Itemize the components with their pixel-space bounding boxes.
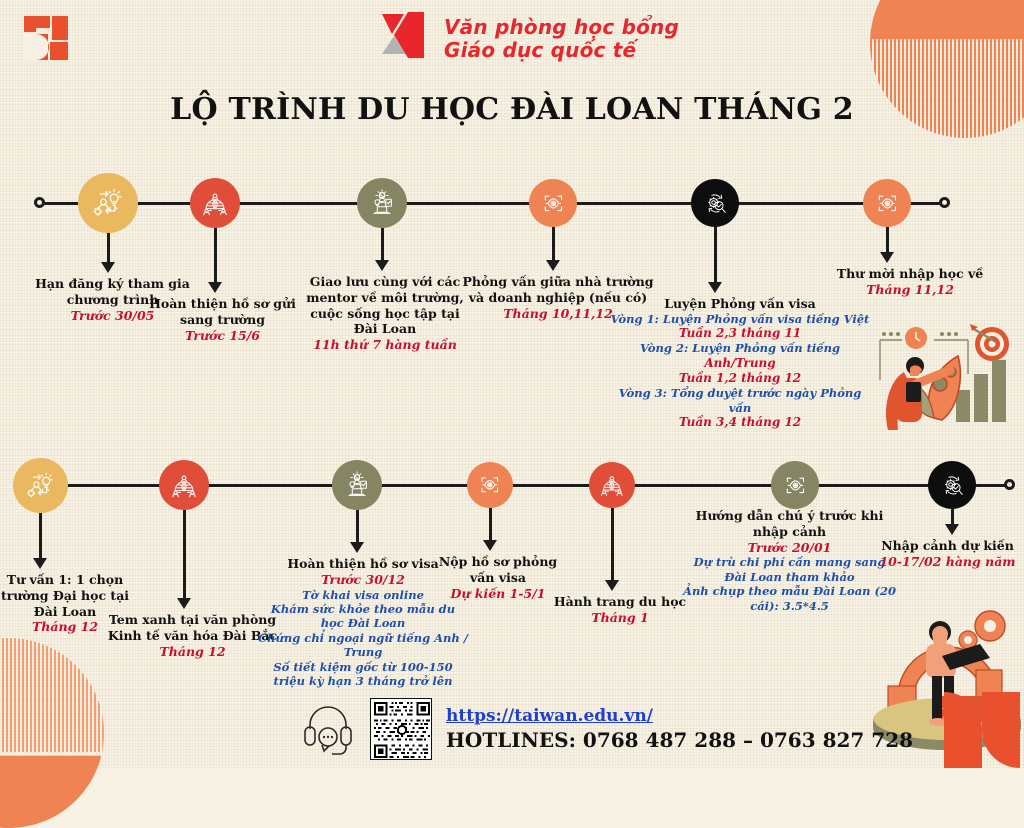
step-row2-date-3: Trước 30/12 bbox=[258, 572, 468, 588]
step-row2-arrow-7 bbox=[945, 524, 959, 535]
step-row2-arrow-3 bbox=[350, 542, 364, 553]
step-row1-arrow-1 bbox=[101, 262, 115, 273]
timeline-endcap-end-2 bbox=[1004, 479, 1015, 490]
step-row1-note-5-3: Vòng 2: Luyện Phỏng vấn tiếng bbox=[610, 341, 870, 355]
step-row1-date-6: Tháng 11,12 bbox=[820, 282, 1000, 298]
step-row2-title-7: Nhập cảnh dự kiến bbox=[870, 538, 1024, 554]
step-row1-note-5-6: Vòng 3: Tổng duyệt trước ngày Phỏng vấn bbox=[610, 386, 870, 415]
globe-people-network-icon bbox=[169, 470, 199, 500]
timeline-node-2-1[interactable] bbox=[13, 458, 68, 513]
website-link[interactable]: https://taiwan.edu.vn/ bbox=[446, 706, 913, 726]
step-row2-note-6-1: Dự trù chi phí cần mang sang Đài Loan th… bbox=[682, 555, 897, 584]
step-row1-caption-3: Giao lưu cùng với các mentor về môi trườ… bbox=[305, 274, 465, 353]
laptop-mentor-checklist-icon bbox=[342, 470, 372, 500]
step-row1-caption-5: Luyện Phỏng vấn visaVòng 1: Luyện Phỏng … bbox=[610, 296, 870, 430]
idea-person-gears-icon bbox=[24, 469, 57, 502]
timeline-node-2-2[interactable] bbox=[159, 460, 209, 510]
idea-person-gears-icon bbox=[90, 185, 126, 221]
timeline-node-1-5[interactable] bbox=[691, 179, 739, 227]
step-row1-date-2: Trước 15/6 bbox=[140, 328, 305, 344]
timeline-node-1-6[interactable] bbox=[863, 179, 911, 227]
step-row1-connector-1 bbox=[107, 233, 110, 262]
page-title: LỘ TRÌNH DU HỌC ĐÀI LOAN THÁNG 2 bbox=[0, 92, 1024, 127]
step-row2-note-3-2: Khám sức khỏe theo mẫu du học Đài Loan bbox=[258, 602, 468, 631]
step-row1-title-5: Luyện Phỏng vấn visa bbox=[610, 296, 870, 312]
step-row1-title-3: Giao lưu cùng với các mentor về môi trườ… bbox=[305, 274, 465, 337]
step-row2-title-6: Hướng dẫn chú ý trước khi nhập cảnh bbox=[682, 508, 897, 540]
eye-focus-scan-icon bbox=[781, 471, 810, 500]
qr-code[interactable] bbox=[370, 698, 432, 760]
step-row2-date-6: Trước 20/01 bbox=[682, 540, 897, 556]
globe-people-network-icon bbox=[598, 471, 626, 499]
brand-lockup: Văn phòng học bổng Giáo dục quốc tế bbox=[378, 8, 679, 69]
hotlines-text: HOTLINES: 0768 487 288 – 0763 827 728 bbox=[446, 728, 913, 752]
step-row2-connector-7 bbox=[951, 509, 954, 524]
step-row1-connector-2 bbox=[214, 228, 217, 282]
step-row2-caption-3: Hoàn thiện hồ sơ visaTrước 30/12Tờ khai … bbox=[258, 556, 468, 689]
s-monogram-logo bbox=[18, 10, 74, 71]
timeline-endcap-end-1 bbox=[939, 197, 950, 208]
headset-support-icon bbox=[300, 699, 356, 760]
step-row2-title-4: Nộp hồ sơ phỏng vấn visa bbox=[438, 554, 558, 586]
timeline-node-2-3[interactable] bbox=[332, 460, 382, 510]
step-row1-note-5-7: Tuần 3,4 tháng 12 bbox=[610, 415, 870, 430]
step-row1-arrow-2 bbox=[208, 282, 222, 293]
brand-line-2: Giáo dục quốc tế bbox=[444, 39, 679, 61]
step-row2-caption-6: Hướng dẫn chú ý trước khi nhập cảnhTrước… bbox=[682, 508, 897, 613]
step-row2-caption-5: Hành trang du họcTháng 1 bbox=[550, 594, 690, 626]
brand-line-1: Văn phòng học bổng bbox=[444, 16, 679, 38]
timeline-node-2-4[interactable] bbox=[467, 462, 513, 508]
globe-people-network-icon bbox=[200, 188, 230, 218]
step-row2-note-3-4: Số tiết kiệm gốc từ 100-150 triệu kỳ hạn… bbox=[258, 660, 468, 689]
timeline-node-2-6[interactable] bbox=[771, 461, 819, 509]
step-row1-note-5-2: Tuần 2,3 tháng 11 bbox=[610, 326, 870, 341]
step-row2-connector-4 bbox=[489, 508, 492, 540]
timeline-node-1-2[interactable] bbox=[190, 178, 240, 228]
step-row2-caption-2: Tem xanh tại văn phòng Kinh tế văn hóa Đ… bbox=[105, 612, 280, 659]
step-row2-title-2: Tem xanh tại văn phòng Kinh tế văn hóa Đ… bbox=[105, 612, 280, 644]
step-row2-caption-7: Nhập cảnh dự kiến10-17/02 hàng năm bbox=[870, 538, 1024, 570]
step-row2-arrow-2 bbox=[177, 598, 191, 609]
footer-contact: https://taiwan.edu.vn/ HOTLINES: 0768 48… bbox=[300, 698, 913, 760]
step-row1-caption-6: Thư mời nhập học vềTháng 11,12 bbox=[820, 266, 1000, 298]
step-row2-note-3-1: Tờ khai visa online bbox=[258, 588, 468, 602]
step-row2-caption-4: Nộp hồ sơ phỏng vấn visaDự kiến 1-5/1 bbox=[438, 554, 558, 601]
step-row1-connector-3 bbox=[381, 228, 384, 260]
step-row2-title-3: Hoàn thiện hồ sơ visa bbox=[258, 556, 468, 572]
timeline-node-2-7[interactable] bbox=[928, 461, 976, 509]
step-row1-connector-5 bbox=[714, 227, 717, 282]
step-row1-title-6: Thư mời nhập học về bbox=[820, 266, 1000, 282]
step-row2-connector-2 bbox=[183, 510, 186, 598]
step-row2-arrow-1 bbox=[33, 558, 47, 569]
step-row1-connector-4 bbox=[552, 227, 555, 260]
step-row1-arrow-3 bbox=[375, 260, 389, 271]
step-row2-arrow-5 bbox=[605, 580, 619, 591]
timeline-node-1-1[interactable] bbox=[78, 173, 138, 233]
step-row2-note-6-2: Ảnh chụp theo mẫu Đài Loan (20 cái): 3.5… bbox=[682, 584, 897, 613]
eye-focus-scan-icon bbox=[476, 471, 504, 499]
timeline-node-1-4[interactable] bbox=[529, 179, 577, 227]
step-row1-arrow-6 bbox=[880, 252, 894, 263]
eye-focus-scan-icon bbox=[873, 189, 902, 218]
step-row2-title-5: Hành trang du học bbox=[550, 594, 690, 610]
gear-magnifier-check-icon bbox=[938, 471, 967, 500]
step-row2-date-2: Tháng 12 bbox=[105, 644, 280, 660]
step-row2-date-5: Tháng 1 bbox=[550, 610, 690, 626]
step-row2-connector-1 bbox=[39, 513, 42, 559]
step-row1-caption-2: Hoàn thiện hồ sơ gửi sang trườngTrước 15… bbox=[140, 296, 305, 343]
step-row2-arrow-4 bbox=[483, 540, 497, 551]
gear-magnifier-check-icon bbox=[701, 189, 730, 218]
step-row1-title-2: Hoàn thiện hồ sơ gửi sang trường bbox=[140, 296, 305, 328]
timeline-node-1-3[interactable] bbox=[357, 178, 407, 228]
step-row1-note-5-1: Vòng 1: Luyện Phỏng vấn visa tiếng Việt bbox=[610, 312, 870, 326]
step-row2-connector-3 bbox=[356, 510, 359, 542]
step-row2-date-7: 10-17/02 hàng năm bbox=[870, 554, 1024, 570]
eye-focus-scan-icon bbox=[539, 189, 568, 218]
step-row1-note-5-5: Tuần 1,2 tháng 12 bbox=[610, 371, 870, 386]
timeline-rail-1 bbox=[40, 202, 945, 205]
step-row1-date-3: 11h thứ 7 hàng tuần bbox=[305, 337, 465, 353]
step-row1-arrow-5 bbox=[708, 282, 722, 293]
step-row1-note-5-4: Anh/Trung bbox=[610, 356, 870, 371]
step-row1-arrow-4 bbox=[546, 260, 560, 271]
step-row1-connector-6 bbox=[886, 227, 889, 252]
timeline-node-2-5[interactable] bbox=[589, 462, 635, 508]
timeline-endcap-start-1 bbox=[34, 197, 45, 208]
step-row2-date-4: Dự kiến 1-5/1 bbox=[438, 586, 558, 602]
step-row2-connector-5 bbox=[611, 508, 614, 580]
laptop-mentor-checklist-icon bbox=[367, 188, 397, 218]
step-row2-note-3-3: Chứng chỉ ngoại ngữ tiếng Anh / Trung bbox=[258, 631, 468, 660]
k-monogram-logo bbox=[378, 8, 434, 69]
